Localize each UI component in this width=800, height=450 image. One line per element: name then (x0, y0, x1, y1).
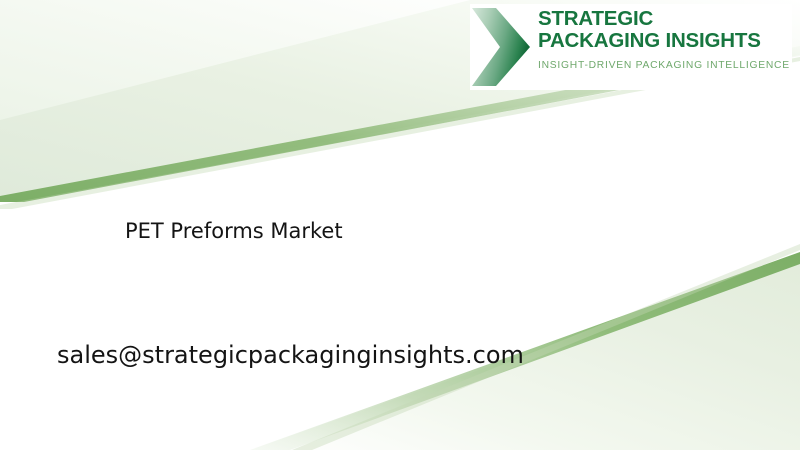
contact-email: sales@strategicpackaginginsights.com (57, 339, 524, 371)
company-logo: STRATEGIC PACKAGING INSIGHTS INSIGHT-DRI… (470, 4, 792, 90)
top-left-wedge-fold (0, 0, 470, 120)
title-slide: STRATEGIC PACKAGING INSIGHTS INSIGHT-DRI… (0, 0, 800, 450)
page-title: PET Preforms Market (125, 217, 343, 245)
logo-name-line-1: STRATEGIC (538, 8, 790, 30)
logo-text: STRATEGIC PACKAGING INSIGHTS INSIGHT-DRI… (538, 4, 790, 72)
logo-name-line-2: PACKAGING INSIGHTS (538, 30, 790, 52)
chevron-arrow-icon (470, 6, 532, 88)
logo-tagline: INSIGHT-DRIVEN PACKAGING INTELLIGENCE (538, 60, 790, 72)
